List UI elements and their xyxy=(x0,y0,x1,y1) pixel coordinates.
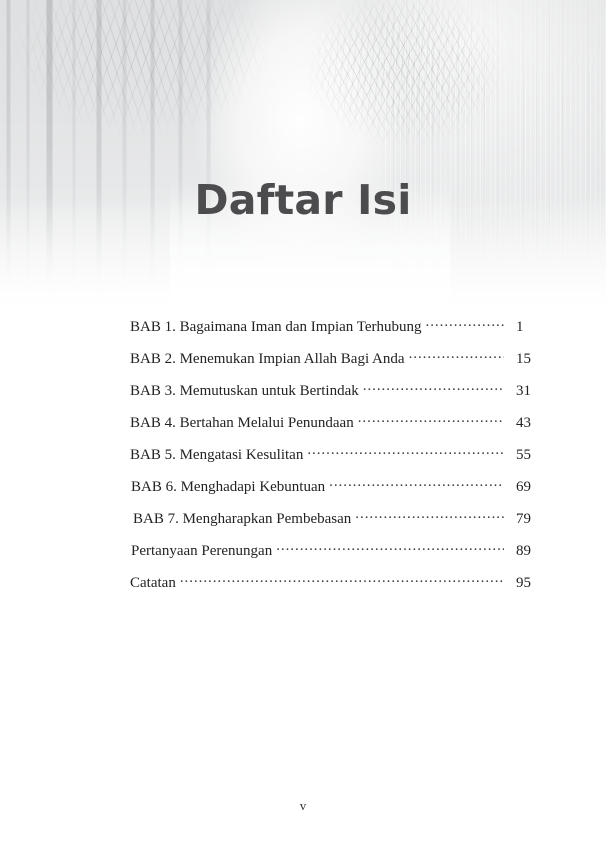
toc-entry-label: BAB 6. Menghadapi Kebuntuan xyxy=(131,479,325,496)
toc-entry[interactable]: Pertanyaan Perenungan 89 xyxy=(130,540,550,572)
dot-leader xyxy=(426,316,504,331)
toc-entry-label: BAB 3. Memutuskan untuk Bertindak xyxy=(130,383,359,400)
toc-entry[interactable]: BAB 3. Memutuskan untuk Bertindak 31 xyxy=(130,380,550,412)
dot-leader xyxy=(355,508,504,523)
table-of-contents: BAB 1. Bagaimana Iman dan Impian Terhubu… xyxy=(130,316,550,604)
toc-entry-label: BAB 5. Mengatasi Kesulitan xyxy=(130,447,303,464)
toc-entry[interactable]: BAB 4. Bertahan Melalui Penundaan 43 xyxy=(130,412,550,444)
toc-entry-page: 1 xyxy=(507,319,550,336)
toc-entry-page: 43 xyxy=(507,415,550,432)
dot-leader xyxy=(329,476,504,491)
toc-entry-page: 95 xyxy=(507,575,550,592)
dot-leader xyxy=(276,540,504,555)
toc-entry-label: BAB 4. Bertahan Melalui Penundaan xyxy=(130,415,354,432)
toc-entry-page: 89 xyxy=(507,543,550,560)
toc-entry[interactable]: BAB 2. Menemukan Impian Allah Bagi Anda … xyxy=(130,348,550,380)
toc-entry[interactable]: BAB 1. Bagaimana Iman dan Impian Terhubu… xyxy=(130,316,550,348)
toc-entry-page: 31 xyxy=(507,383,550,400)
dot-leader xyxy=(180,572,504,587)
toc-entry-label: BAB 1. Bagaimana Iman dan Impian Terhubu… xyxy=(130,319,422,336)
forest-photo-banner xyxy=(0,0,606,318)
dot-leader xyxy=(358,412,504,427)
dot-leader xyxy=(307,444,504,459)
toc-entry-page: 15 xyxy=(507,351,550,368)
toc-entry[interactable]: BAB 6. Menghadapi Kebuntuan 69 xyxy=(130,476,550,508)
book-contents-page: Daftar Isi BAB 1. Bagaimana Iman dan Imp… xyxy=(0,0,606,843)
toc-entry-label: Pertanyaan Perenungan xyxy=(131,543,272,560)
photo-fade-overlay xyxy=(0,0,606,318)
toc-entry-page: 55 xyxy=(507,447,550,464)
dot-leader xyxy=(363,380,504,395)
toc-entry[interactable]: BAB 5. Mengatasi Kesulitan 55 xyxy=(130,444,550,476)
toc-entry[interactable]: Catatan 95 xyxy=(130,572,550,604)
toc-entry-label: BAB 2. Menemukan Impian Allah Bagi Anda xyxy=(130,351,405,368)
page-number: v xyxy=(0,798,606,814)
toc-entry-label: BAB 7. Mengharapkan Pembebasan xyxy=(133,511,351,528)
toc-entry-page: 69 xyxy=(507,479,550,496)
dot-leader xyxy=(409,348,504,363)
toc-entry-page: 79 xyxy=(507,511,550,528)
page-title: Daftar Isi xyxy=(0,174,606,226)
toc-entry[interactable]: BAB 7. Mengharapkan Pembebasan 79 xyxy=(130,508,550,540)
toc-entry-label: Catatan xyxy=(130,575,176,592)
